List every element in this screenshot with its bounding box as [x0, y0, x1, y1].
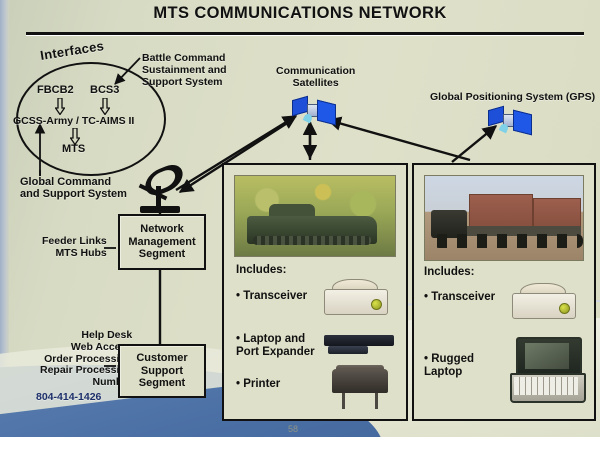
list-item: • Laptop and Port Expander — [236, 333, 315, 360]
callout-line: Satellites — [276, 78, 355, 90]
help-desk-phone-number: 804-414-1426 — [36, 392, 101, 404]
list-item-line: • Rugged — [424, 353, 474, 366]
interface-node-gcss-tcaims: GCSS-Army / TC-AIMS II — [13, 116, 134, 128]
page-number: 58 — [288, 424, 298, 434]
includes-label: Includes: — [236, 264, 286, 276]
box-line: Network — [128, 223, 195, 236]
transceiver-icon — [324, 279, 386, 313]
list-item: • Transceiver — [424, 291, 495, 304]
includes-label: Includes: — [424, 266, 474, 278]
callout-battle-command: Battle Command Sustainment and Support S… — [142, 53, 227, 88]
cargo-container — [469, 194, 533, 228]
port-expander-icon — [324, 335, 394, 357]
list-item: • Rugged Laptop — [424, 353, 474, 380]
box-network-management-segment[interactable]: Network Management Segment — [118, 214, 206, 270]
printer-body — [332, 369, 388, 393]
callout-line: Sustainment and — [142, 65, 227, 77]
rugged-laptop-icon — [510, 337, 582, 401]
callout-line: and Support System — [20, 188, 127, 200]
box-line: Segment — [136, 377, 187, 390]
down-arrow-icon — [70, 128, 79, 144]
callout-feeder-links: Feeder Links MTS Hubs — [42, 236, 107, 260]
laptop-keys — [514, 377, 578, 395]
cargo-container — [533, 198, 581, 228]
box-customer-support-segment[interactable]: Customer Support Segment — [118, 344, 206, 398]
callout-global-command: Global Command and Support System — [20, 176, 127, 201]
list-item: • Printer — [236, 378, 280, 391]
box-line: Customer — [136, 352, 187, 365]
dish-mast — [156, 186, 161, 208]
box-line: Segment — [128, 248, 195, 261]
callout-line: Support System — [142, 77, 227, 89]
transceiver-icon — [512, 283, 574, 317]
list-item-line: • Laptop and — [236, 333, 315, 346]
dish-base — [140, 206, 180, 213]
list-item-line: • Transceiver — [236, 290, 307, 303]
box-line: Management — [128, 236, 195, 249]
panel-mts-truck-kit: Includes: • Transceiver • Rugged Laptop — [412, 163, 596, 421]
vehicle-body — [247, 216, 377, 244]
satellite-icon — [292, 96, 336, 126]
label-gps: Global Positioning System (GPS) — [430, 92, 595, 104]
satellite-panel-right — [513, 110, 532, 136]
slide-screenshot: MTS COMMUNICATIONS NETWORK — [0, 0, 600, 450]
satellite-icon — [488, 106, 532, 136]
callout-line: Communication — [276, 66, 355, 78]
port-expander-body — [324, 335, 394, 346]
down-arrow-icon — [100, 98, 109, 114]
interface-node-bcs3: BCS3 — [90, 84, 119, 96]
satellite-dish-icon — [132, 168, 190, 216]
list-item-line: • Printer — [236, 378, 280, 391]
box-line: Support — [136, 365, 187, 378]
transceiver-connector — [559, 303, 570, 314]
interface-node-fbcb2: FBCB2 — [37, 84, 74, 96]
list-item: • Transceiver — [236, 290, 307, 303]
callout-line: Help Desk — [40, 330, 132, 342]
satellite-panel-right — [317, 100, 336, 126]
label-communication-satellites: Communication Satellites — [276, 66, 355, 90]
list-item-line: Laptop — [424, 366, 474, 379]
printer-leg — [342, 393, 345, 409]
photo-tracked-vehicle — [234, 175, 396, 257]
truck-wheels — [433, 234, 583, 248]
callout-line: Feeder Links — [42, 236, 107, 248]
slide-canvas: MTS COMMUNICATIONS NETWORK — [0, 0, 600, 437]
printer-leg — [375, 393, 378, 409]
list-item-line: Port Expander — [236, 346, 315, 359]
transceiver-connector — [371, 299, 382, 310]
photo-truck-with-containers — [424, 175, 584, 261]
callout-line: MTS Hubs — [42, 248, 107, 260]
laptop-screen — [516, 337, 582, 377]
panel-mts-vehicle-kit: Includes: • Transceiver • Laptop and Por… — [222, 163, 408, 421]
down-arrow-icon — [55, 98, 64, 114]
laptop-display — [525, 343, 569, 369]
port-expander-connector — [328, 346, 368, 354]
callout-line: Battle Command — [142, 53, 227, 65]
list-item-line: • Transceiver — [424, 291, 495, 304]
printer-icon — [332, 365, 388, 409]
callout-line: Global Command — [20, 176, 127, 188]
